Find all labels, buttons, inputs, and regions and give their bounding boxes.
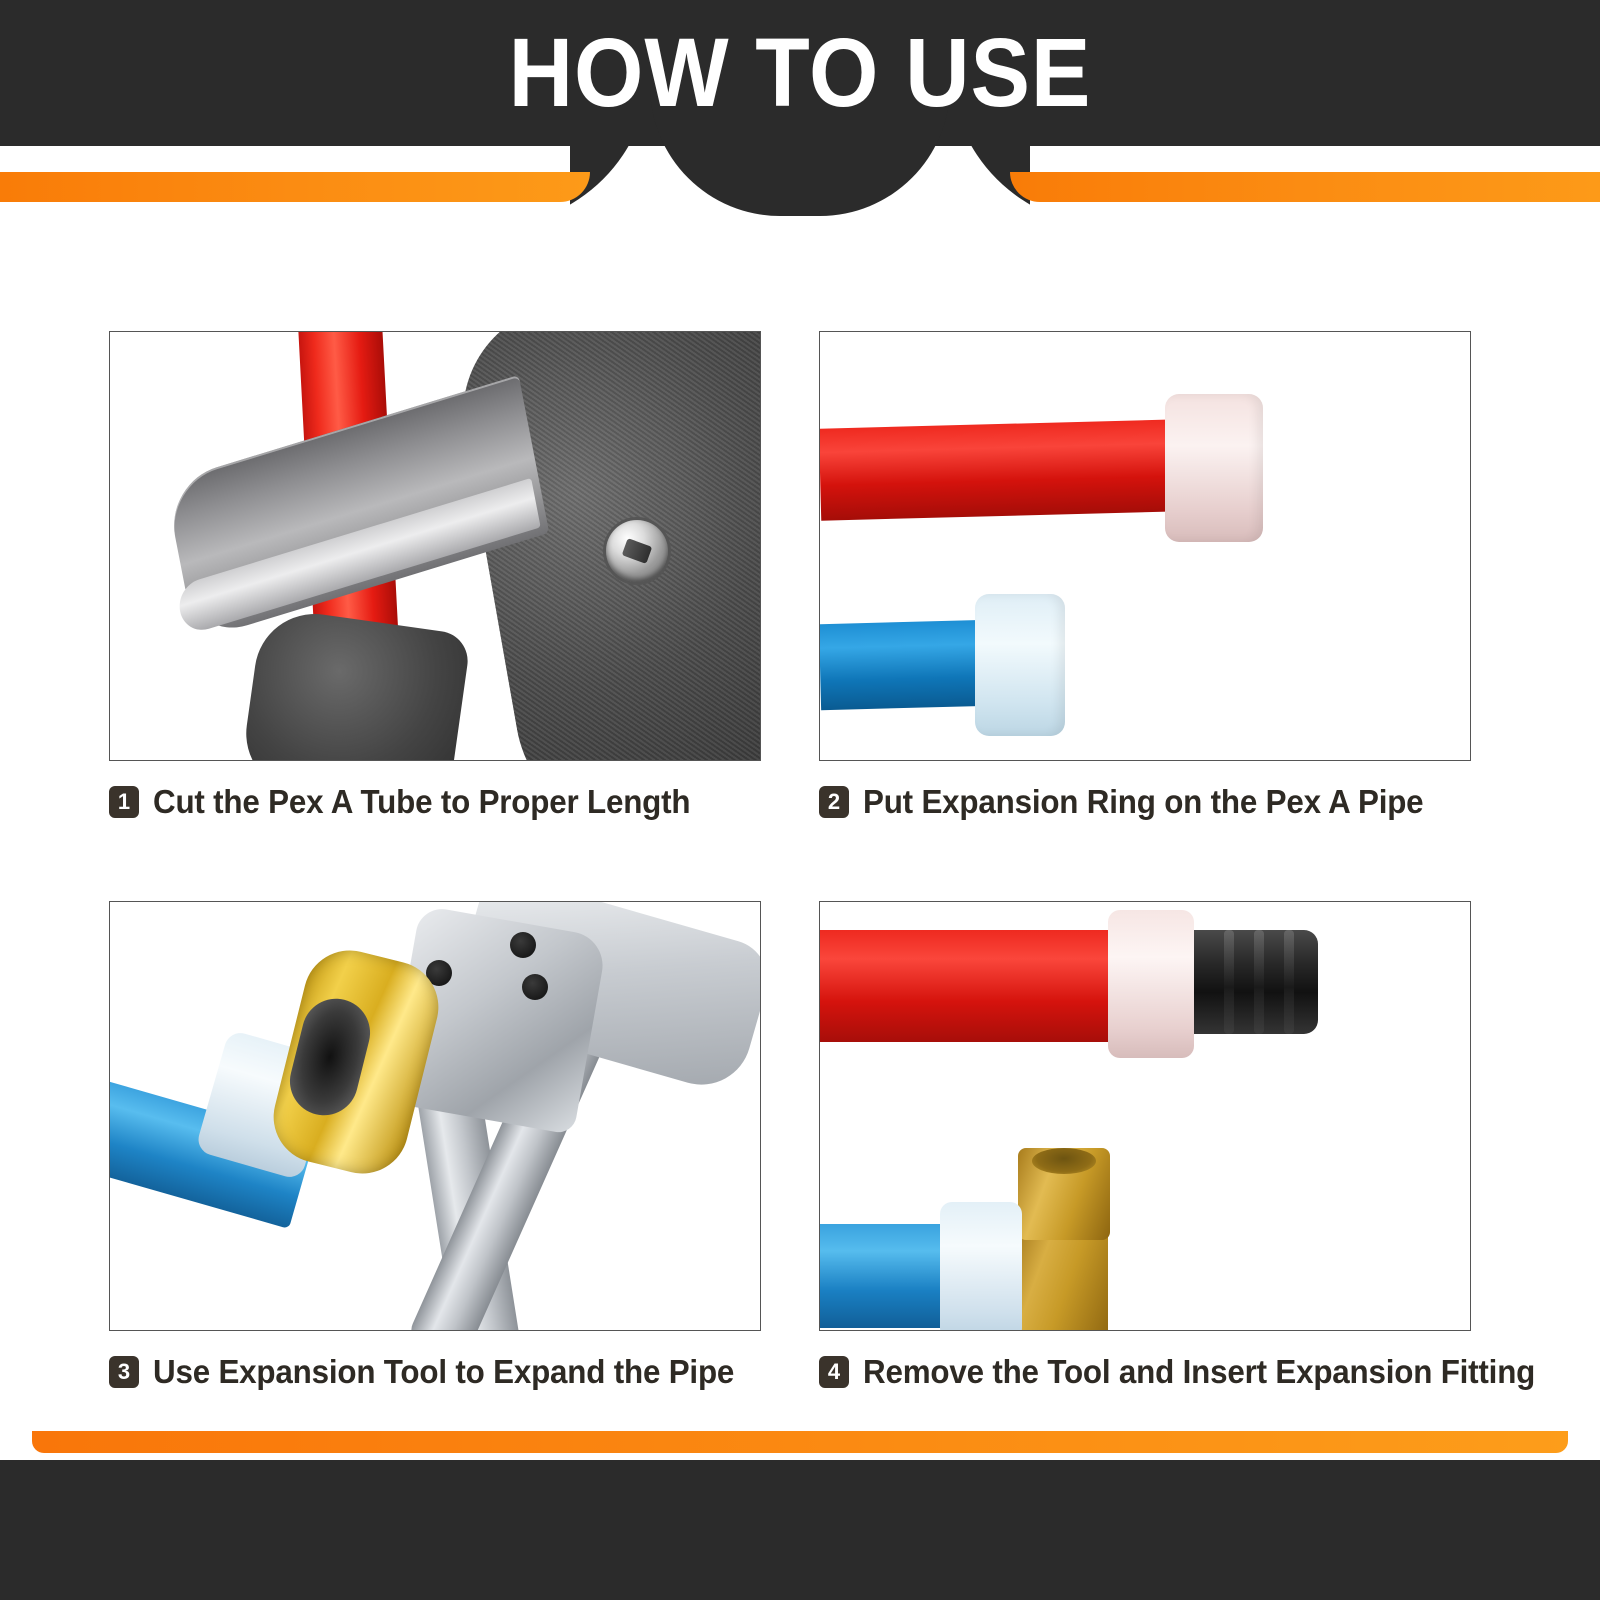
step-3-photo: [109, 901, 761, 1331]
red-expansion-ring: [1108, 910, 1194, 1058]
step-1-caption-text: Cut the Pex A Tube to Proper Length: [153, 783, 690, 821]
blue-pex-pipe: [819, 620, 991, 710]
step-2-photo: [819, 331, 1471, 761]
step-3: 3 Use Expansion Tool to Expand the Pipe: [109, 901, 761, 1391]
red-pex-pipe: [819, 419, 1181, 520]
step-3-number-badge: 3: [109, 1356, 139, 1388]
red-pex-pipe: [820, 930, 1120, 1042]
step-1-caption: 1 Cut the Pex A Tube to Proper Length: [109, 783, 719, 821]
step-4-caption-text: Remove the Tool and Insert Expansion Fit…: [863, 1353, 1535, 1391]
page-title: HOW TO USE: [64, 18, 1536, 128]
blue-pex-pipe: [820, 1224, 950, 1328]
step-1-photo: [109, 331, 761, 761]
fitting-barb-ridge: [1254, 930, 1264, 1034]
tool-pivot-hole: [522, 974, 548, 1000]
footer-accent-bar: [32, 1431, 1568, 1453]
tool-pivot-hole: [510, 932, 536, 958]
step-2: 2 Put Expansion Ring on the Pex A Pipe: [819, 331, 1471, 821]
cutter-jaw: [238, 606, 471, 761]
fitting-barb-ridge: [1224, 930, 1234, 1034]
steps-grid: 1 Cut the Pex A Tube to Proper Length 2 …: [109, 331, 1471, 1391]
cutter-rivet-screw: [606, 520, 668, 582]
step-2-number-badge: 2: [819, 786, 849, 818]
step-2-caption: 2 Put Expansion Ring on the Pex A Pipe: [819, 783, 1453, 821]
how-to-use-infographic: HOW TO USE 1 Cut the Pex A Tube to Prope…: [0, 0, 1600, 1600]
blue-expansion-ring: [940, 1202, 1022, 1331]
step-4-number-badge: 4: [819, 1356, 849, 1388]
fitting-barb-ridge: [1284, 930, 1294, 1034]
step-3-caption-text: Use Expansion Tool to Expand the Pipe: [153, 1353, 734, 1391]
step-4-photo: [819, 901, 1471, 1331]
red-expansion-ring: [1165, 394, 1263, 542]
header-accent-right: [1010, 172, 1600, 202]
step-4: 4 Remove the Tool and Insert Expansion F…: [819, 901, 1471, 1391]
header: HOW TO USE: [0, 0, 1600, 210]
step-1: 1 Cut the Pex A Tube to Proper Length: [109, 331, 761, 821]
step-3-caption: 3 Use Expansion Tool to Expand the Pipe: [109, 1353, 765, 1391]
footer-dark-bar: [0, 1460, 1600, 1600]
brass-fitting-bore: [1032, 1148, 1096, 1174]
step-2-caption-text: Put Expansion Ring on the Pex A Pipe: [863, 783, 1423, 821]
step-4-caption: 4 Remove the Tool and Insert Expansion F…: [819, 1353, 1570, 1391]
step-1-number-badge: 1: [109, 786, 139, 818]
black-expansion-fitting: [1188, 930, 1318, 1034]
header-accent-left: [0, 172, 590, 202]
blue-expansion-ring: [975, 594, 1065, 736]
